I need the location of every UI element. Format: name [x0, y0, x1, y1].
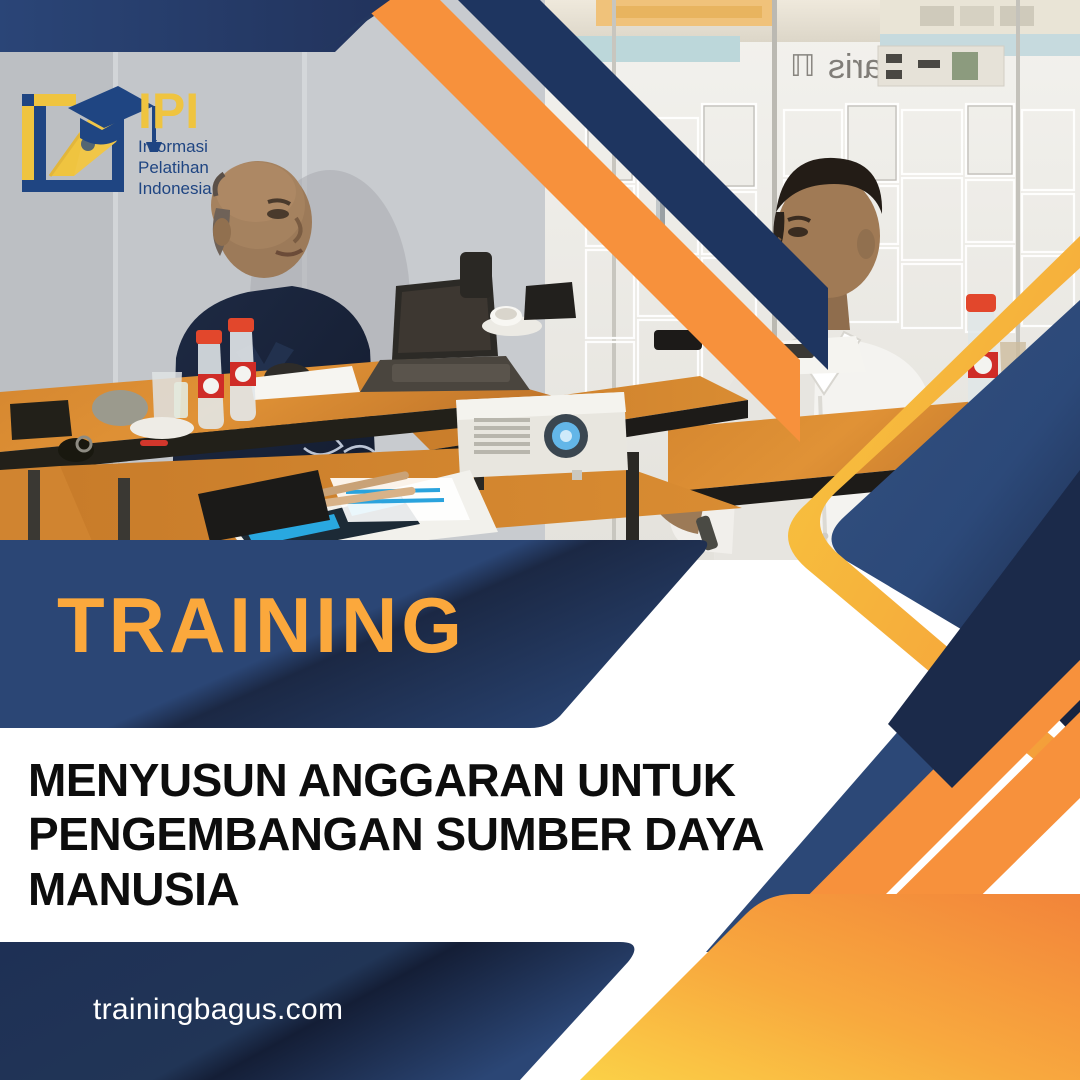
footer-website-url: trainingbagus.com: [93, 993, 343, 1027]
eyebrow-training-label: TRAINING: [57, 586, 466, 664]
ipi-logo: IPI Informasi Pelatihan Indonesia: [14, 72, 224, 212]
logo-line-3: Indonesia: [138, 179, 212, 198]
svg-text:ℿ: ℿ: [790, 50, 815, 83]
logo-initials: IPI: [138, 83, 199, 139]
page-title: MENYUSUN ANGGARAN UNTUK PENGEMBANGAN SUM…: [28, 753, 858, 916]
logo-line-2: Pelatihan: [138, 158, 209, 177]
poster-canvas: amaris ℿ: [0, 0, 1080, 1080]
logo-line-1: Informasi: [138, 137, 208, 156]
